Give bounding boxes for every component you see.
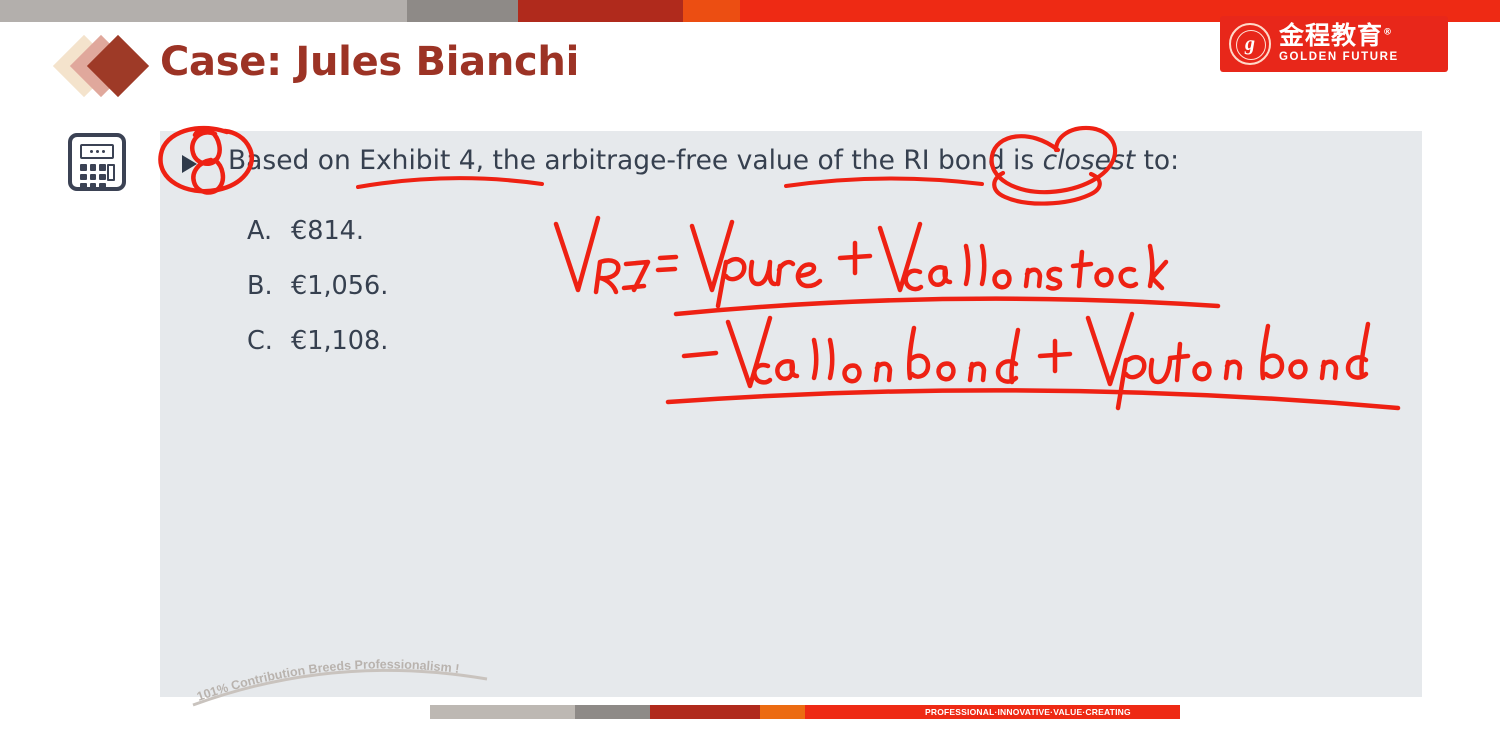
bullet-arrow-icon bbox=[182, 155, 197, 173]
page-title: Case: Jules Bianchi bbox=[160, 39, 579, 85]
top-band-4 bbox=[683, 0, 740, 22]
logo-emblem-icon: g bbox=[1229, 23, 1271, 65]
diamond-logo-icon bbox=[60, 33, 160, 99]
footer-tagline-textpath: 101% Contribution Breeds Professionalism… bbox=[195, 657, 460, 703]
question-circled-term: RI bbox=[903, 145, 929, 176]
bottom-band-1 bbox=[430, 705, 575, 719]
top-band-3 bbox=[518, 0, 683, 22]
question-suffix-1: bond is bbox=[930, 145, 1043, 176]
bottom-band-2 bbox=[575, 705, 650, 719]
choice-b-value: €1,056. bbox=[291, 271, 388, 301]
choice-a-label: A. bbox=[247, 204, 291, 259]
logo-chinese-name: 金程教育® bbox=[1279, 23, 1399, 49]
logo-english-name: GOLDEN FUTURE bbox=[1279, 51, 1399, 65]
choice-a[interactable]: A.€814. bbox=[247, 204, 388, 259]
bottom-bar-slogan: PROFESSIONAL·INNOVATIVE·VALUE·CREATING bbox=[925, 707, 1131, 717]
calculator-screen bbox=[80, 144, 114, 159]
registered-mark: ® bbox=[1383, 28, 1393, 38]
question-text: Based on Exhibit 4, the arbitrage-free v… bbox=[228, 145, 1179, 176]
calculator-enter-key bbox=[107, 164, 115, 181]
emblem-letter: g bbox=[1245, 34, 1255, 54]
question-exhibit-ref: Exhibit 4 bbox=[359, 145, 475, 176]
top-band-2 bbox=[407, 0, 518, 22]
bottom-color-bar bbox=[0, 705, 1500, 719]
choice-b[interactable]: B.€1,056. bbox=[247, 259, 388, 314]
logo-text-block: 金程教育® GOLDEN FUTURE bbox=[1279, 23, 1399, 64]
brand-logo: g 金程教育® GOLDEN FUTURE bbox=[1220, 16, 1448, 72]
answer-choices: A.€814. B.€1,056. C.€1,108. bbox=[247, 204, 388, 369]
bottom-band-3 bbox=[650, 705, 760, 719]
question-underlined-2: free value of the bbox=[676, 145, 903, 176]
question-prefix: Based on bbox=[228, 145, 359, 176]
choice-c[interactable]: C.€1,108. bbox=[247, 314, 388, 369]
calculator-keys bbox=[80, 164, 106, 190]
calculator-body bbox=[68, 133, 126, 191]
bottom-band-4 bbox=[760, 705, 805, 719]
top-band-1 bbox=[0, 0, 407, 22]
calculator-icon bbox=[68, 133, 126, 191]
choice-c-label: C. bbox=[247, 314, 291, 369]
choice-c-value: €1,108. bbox=[291, 326, 388, 356]
question-italic-closest: closest bbox=[1043, 145, 1135, 176]
slide-canvas: g 金程教育® GOLDEN FUTURE Case: Jules Bianch… bbox=[0, 0, 1500, 750]
footer-tagline-text: 101% Contribution Breeds Professionalism… bbox=[195, 657, 460, 703]
choice-a-value: €814. bbox=[291, 216, 364, 246]
question-middle: , the arbitrage- bbox=[476, 145, 676, 176]
question-suffix-2: to: bbox=[1135, 145, 1179, 176]
choice-b-label: B. bbox=[247, 259, 291, 314]
